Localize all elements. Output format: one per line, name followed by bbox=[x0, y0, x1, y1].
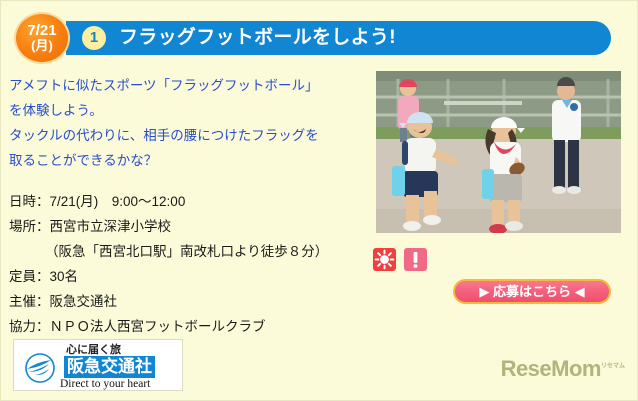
detail-access: （阪急「西宮北口駅」南改札口より徒歩８分） bbox=[9, 239, 369, 264]
description-line: を体験しよう。 bbox=[9, 98, 369, 123]
event-description: アメフトに似たスポーツ「フラッグフットボール」 を体験しよう。 タックルの代わり… bbox=[9, 73, 369, 173]
logo-tagline-bottom: Direct to your heart bbox=[60, 378, 150, 390]
description-line: タックルの代わりに、相手の腰につけたフラッグを bbox=[9, 123, 369, 148]
event-details: 日時：7/21(月) 9:00〜12:00 場所：西宮市立深津小学校 （阪急「西… bbox=[9, 189, 369, 339]
event-title: フラッグフットボールをしよう! bbox=[119, 21, 396, 55]
hankyu-mark-icon bbox=[21, 352, 59, 384]
detail-cooperation: 協力：ＮＰＯ法人西宮フットボールクラブ bbox=[9, 314, 369, 339]
exclamation-icon bbox=[404, 248, 427, 271]
event-number-badge: 1 bbox=[82, 26, 106, 50]
logo-company-name: 阪急交通社 bbox=[64, 356, 155, 378]
description-line: アメフトに似たスポーツ「フラッグフットボール」 bbox=[9, 73, 369, 98]
detail-datetime: 日時：7/21(月) 9:00〜12:00 bbox=[9, 189, 369, 214]
watermark-ruby: リセマム bbox=[601, 364, 625, 370]
detail-capacity: 定員：30名 bbox=[9, 264, 369, 289]
icon-row bbox=[373, 248, 427, 271]
photo-illustration bbox=[376, 71, 621, 233]
date-badge: 7/21 (月) bbox=[14, 12, 70, 64]
sun-icon bbox=[373, 248, 396, 271]
logo-tagline-top: 心に届く旅 bbox=[66, 341, 121, 357]
date-badge-main: 7/21 bbox=[27, 23, 56, 39]
detail-organizer: 主催：阪急交通社 bbox=[9, 289, 369, 314]
sponsor-logo: 心に届く旅 阪急交通社 Direct to your heart bbox=[13, 339, 183, 391]
description-line: 取ることができるかな？ bbox=[9, 148, 369, 173]
apply-button[interactable]: ▶ 応募はこちら ◀ bbox=[453, 279, 611, 304]
date-badge-weekday: (月) bbox=[31, 39, 53, 53]
detail-place: 場所：西宮市立深津小学校 bbox=[9, 214, 369, 239]
header-bar: 1 フラッグフットボールをしよう! bbox=[66, 21, 611, 55]
resemom-watermark: ReseMomリセマム bbox=[501, 356, 625, 382]
event-card: 1 フラッグフットボールをしよう! 7/21 (月) アメフトに似たスポーツ「フ… bbox=[0, 0, 638, 401]
event-photo bbox=[376, 71, 621, 233]
watermark-text: ReseMom bbox=[501, 356, 601, 381]
